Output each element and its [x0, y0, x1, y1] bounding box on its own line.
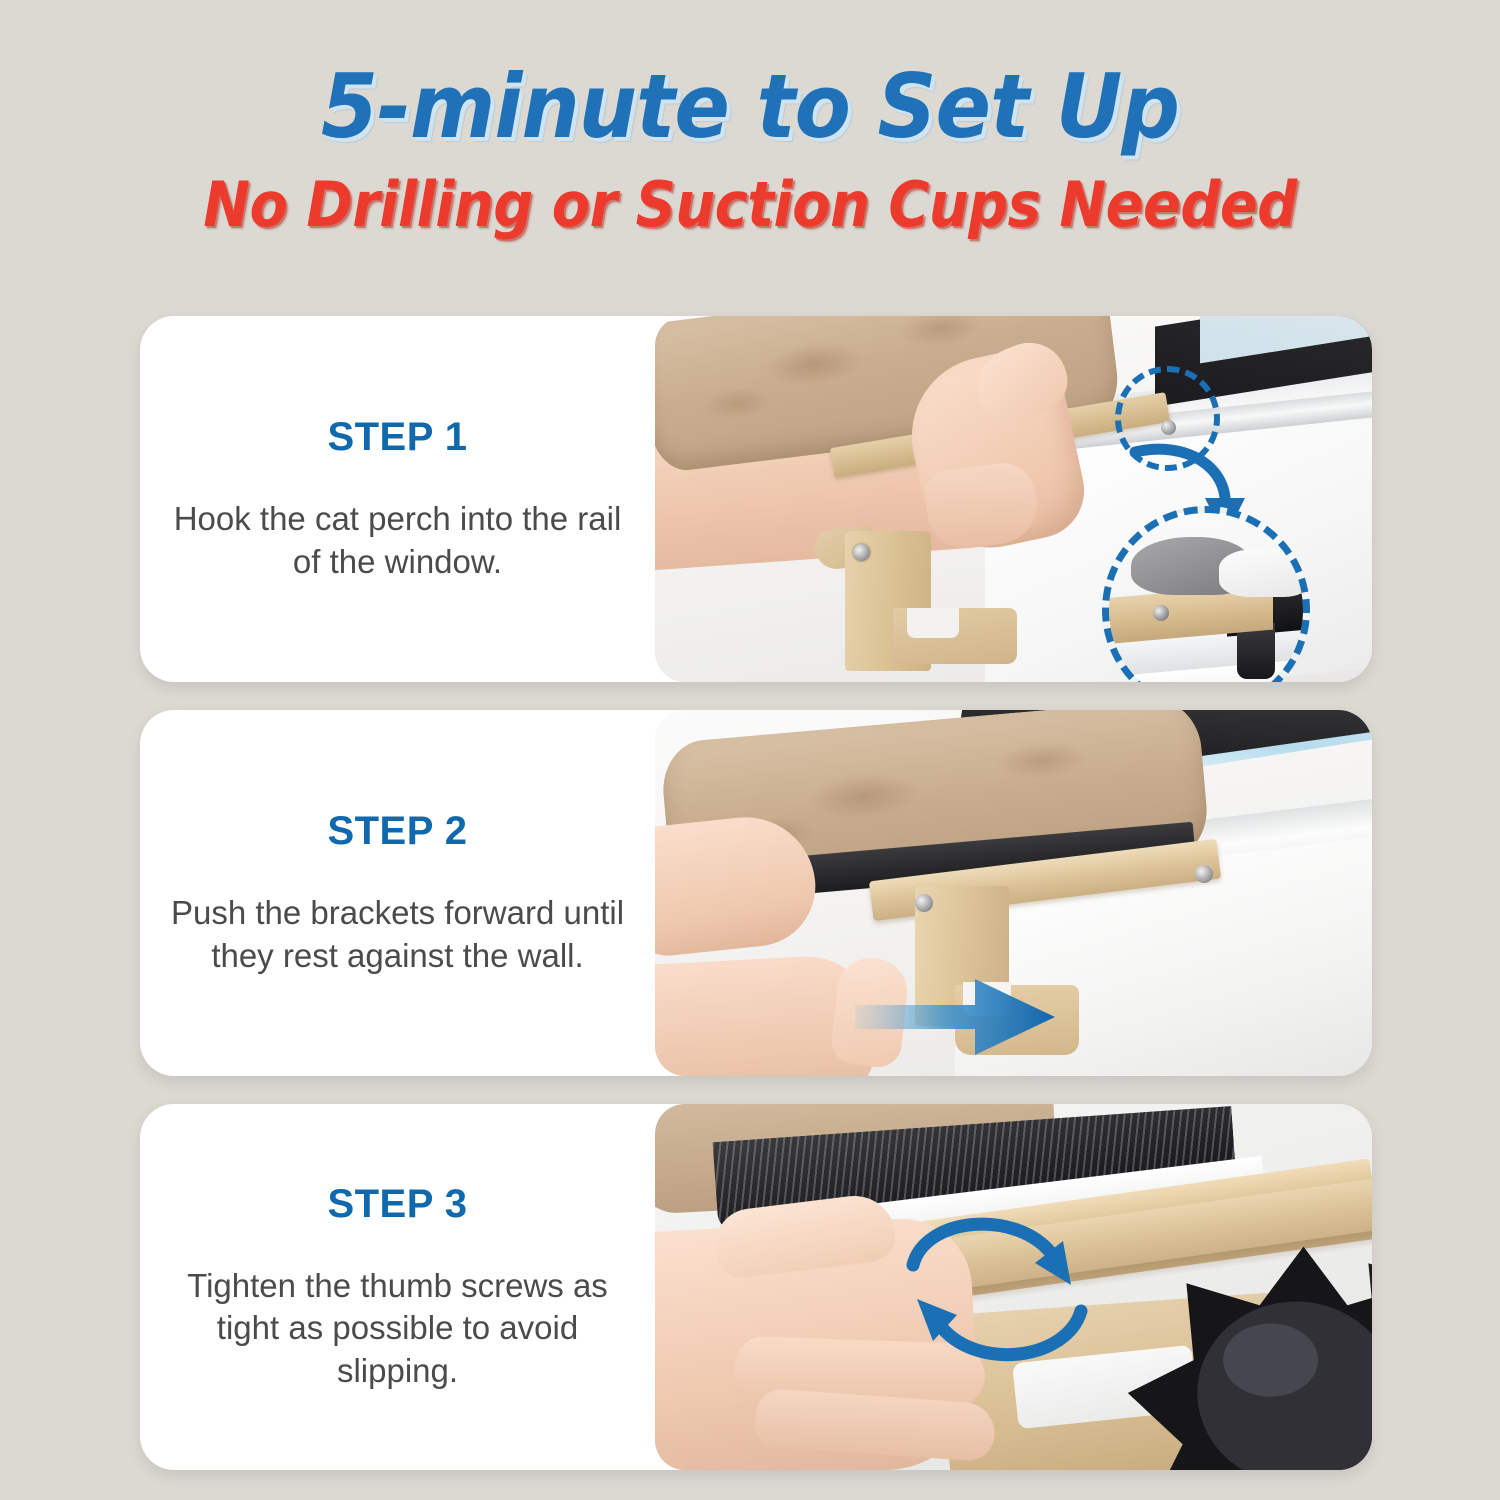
page-headline: 5-minute to Set Up [53, 62, 1448, 152]
page-subheadline: No Drilling or Suction Cups Needed [75, 168, 1425, 241]
step-2-text-panel: STEP 2 Push the brackets forward until t… [140, 710, 655, 1076]
header: 5-minute to Set Up No Drilling or Suctio… [0, 0, 1500, 241]
step-3-label: STEP 3 [327, 1182, 467, 1227]
step-1-text-panel: STEP 1 Hook the cat perch into the rail … [140, 316, 655, 682]
steps-list: STEP 1 Hook the cat perch into the rail … [140, 316, 1372, 1498]
step-3-description: Tighten the thumb screws as tight as pos… [166, 1265, 629, 1392]
step-1-label: STEP 1 [327, 415, 467, 460]
step-1-photo [655, 316, 1372, 682]
step-card-2: STEP 2 Push the brackets forward until t… [140, 710, 1372, 1076]
bracket-screw-icon [853, 544, 870, 561]
bracket-hook-notch [907, 608, 959, 638]
step-2-photo [655, 710, 1372, 1076]
push-arrow-right-icon [855, 965, 1065, 1065]
rotation-arrows-icon [885, 1199, 1115, 1399]
step-3-text-panel: STEP 3 Tighten the thumb screws as tight… [140, 1104, 655, 1470]
slat-screw-icon [1195, 865, 1213, 883]
bracket-screw-icon [915, 894, 933, 912]
step-card-3: STEP 3 Tighten the thumb screws as tight… [140, 1104, 1372, 1470]
step-2-description: Push the brackets forward until they res… [166, 892, 629, 976]
step-card-1: STEP 1 Hook the cat perch into the rail … [140, 316, 1372, 682]
inset-white-mat [1219, 549, 1309, 597]
step-1-description: Hook the cat perch into the rail of the … [166, 498, 629, 582]
step-2-label: STEP 2 [327, 809, 467, 854]
step-3-photo [655, 1104, 1372, 1470]
inset-screw-icon [1153, 605, 1169, 621]
